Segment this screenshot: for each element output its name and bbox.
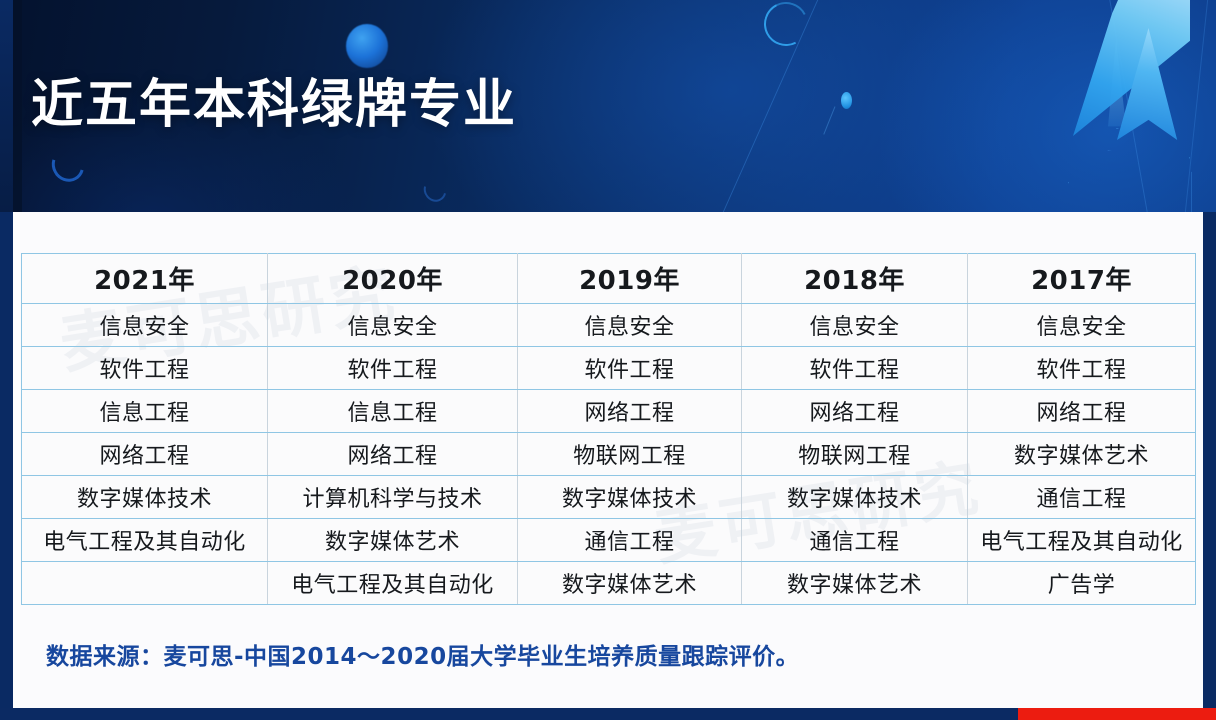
table-cell: 信息安全	[518, 304, 742, 347]
table-cell: 电气工程及其自动化	[22, 519, 268, 562]
table-cell: 广告学	[968, 562, 1196, 605]
left-edge-inner	[13, 212, 20, 708]
header-banner: 近五年本科绿牌专业	[0, 0, 1216, 212]
majors-table-container: 2021年 2020年 2019年 2018年 2017年 信息安全 信息安全 …	[21, 253, 1195, 605]
table-cell: 信息安全	[268, 304, 518, 347]
table-cell: 信息安全	[22, 304, 268, 347]
table-cell: 物联网工程	[518, 433, 742, 476]
table-cell: 软件工程	[968, 347, 1196, 390]
table-cell: 网络工程	[22, 433, 268, 476]
table-cell: 信息工程	[268, 390, 518, 433]
table-header-row: 2021年 2020年 2019年 2018年 2017年	[22, 254, 1196, 304]
column-header-2019: 2019年	[518, 254, 742, 304]
table-row: 软件工程 软件工程 软件工程 软件工程 软件工程	[22, 347, 1196, 390]
banner-left-strip	[0, 0, 13, 212]
table-cell: 软件工程	[518, 347, 742, 390]
table-cell: 软件工程	[22, 347, 268, 390]
table-cell: 通信工程	[968, 476, 1196, 519]
table-cell: 软件工程	[268, 347, 518, 390]
table-row: 电气工程及其自动化 数字媒体艺术 数字媒体艺术 广告学	[22, 562, 1196, 605]
table-cell: 数字媒体艺术	[268, 519, 518, 562]
table-row: 信息工程 信息工程 网络工程 网络工程 网络工程	[22, 390, 1196, 433]
column-header-2020: 2020年	[268, 254, 518, 304]
table-cell: 软件工程	[742, 347, 968, 390]
table-cell: 通信工程	[742, 519, 968, 562]
table-cell: 通信工程	[518, 519, 742, 562]
data-source-note: 数据来源：麦可思-中国2014～2020届大学毕业生培养质量跟踪评价。	[46, 637, 799, 671]
table-cell: 数字媒体艺术	[518, 562, 742, 605]
table-cell: 物联网工程	[742, 433, 968, 476]
table-cell: 数字媒体艺术	[968, 433, 1196, 476]
table-cell: 电气工程及其自动化	[268, 562, 518, 605]
right-edge-accent	[1203, 212, 1216, 708]
small-blue-dot-icon	[841, 92, 852, 109]
slide-root: 近五年本科绿牌专业 麦可思研究 麦可思研究 2021年 2020年 2019年 …	[0, 0, 1216, 720]
table-cell: 信息安全	[742, 304, 968, 347]
majors-table: 2021年 2020年 2019年 2018年 2017年 信息安全 信息安全 …	[21, 253, 1196, 605]
table-cell: 电气工程及其自动化	[968, 519, 1196, 562]
table-row: 数字媒体技术 计算机科学与技术 数字媒体技术 数字媒体技术 通信工程	[22, 476, 1196, 519]
table-row: 电气工程及其自动化 数字媒体艺术 通信工程 通信工程 电气工程及其自动化	[22, 519, 1196, 562]
table-cell: 网络工程	[268, 433, 518, 476]
table-cell: 网络工程	[968, 390, 1196, 433]
table-body: 信息安全 信息安全 信息安全 信息安全 信息安全 软件工程 软件工程 软件工程 …	[22, 304, 1196, 605]
column-header-2017: 2017年	[968, 254, 1196, 304]
table-cell-empty	[22, 562, 268, 605]
column-header-2018: 2018年	[742, 254, 968, 304]
table-cell: 数字媒体技术	[518, 476, 742, 519]
table-cell: 网络工程	[518, 390, 742, 433]
table-cell: 信息工程	[22, 390, 268, 433]
table-row: 网络工程 网络工程 物联网工程 物联网工程 数字媒体艺术	[22, 433, 1196, 476]
table-cell: 信息安全	[968, 304, 1196, 347]
page-title: 近五年本科绿牌专业	[31, 62, 517, 137]
table-cell: 数字媒体艺术	[742, 562, 968, 605]
bottom-bar-red	[1018, 708, 1216, 720]
table-cell: 数字媒体技术	[742, 476, 968, 519]
table-cell: 计算机科学与技术	[268, 476, 518, 519]
bottom-bar-navy	[0, 708, 1018, 720]
banner-left-strip-inner	[13, 0, 22, 212]
table-row: 信息安全 信息安全 信息安全 信息安全 信息安全	[22, 304, 1196, 347]
table-cell: 网络工程	[742, 390, 968, 433]
column-header-2021: 2021年	[22, 254, 268, 304]
table-cell: 数字媒体技术	[22, 476, 268, 519]
left-edge-accent	[0, 212, 13, 708]
